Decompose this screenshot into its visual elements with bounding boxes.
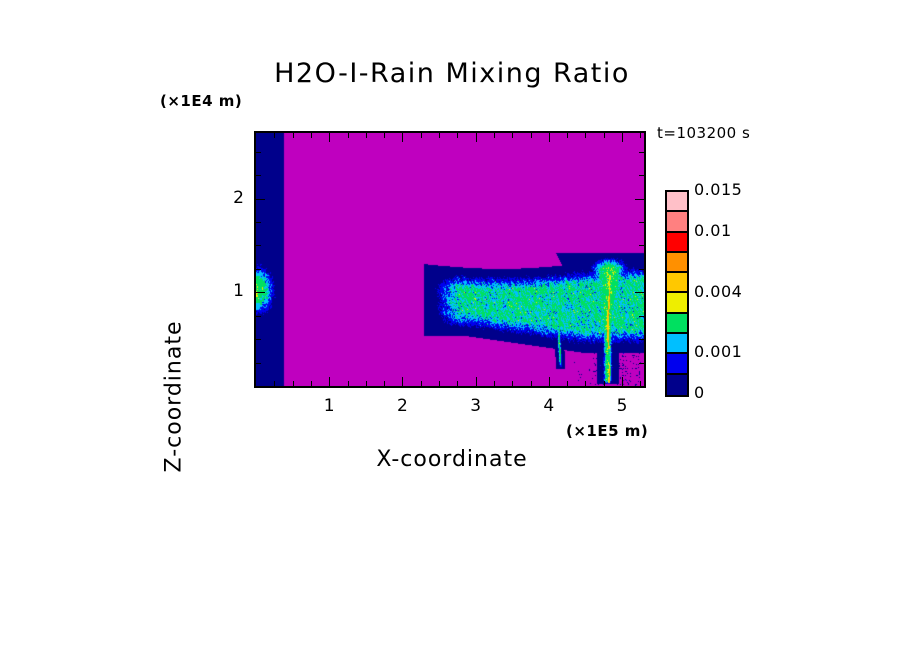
heatmap-canvas [256, 133, 644, 386]
x-minor-tick [457, 381, 458, 386]
x-major-tick [549, 377, 550, 386]
x-minor-tick [348, 381, 349, 386]
x-minor-tick [439, 381, 440, 386]
x-major-tick [549, 133, 550, 142]
x-minor-tick [640, 381, 641, 386]
colorbar-tick-label: 0.001 [694, 342, 742, 361]
colorbar-tick-label: 0.01 [694, 221, 732, 240]
y-major-tick [256, 199, 265, 200]
x-minor-tick [274, 133, 275, 138]
y-minor-tick [639, 245, 644, 246]
y-minor-tick [256, 339, 261, 340]
x-minor-tick [274, 381, 275, 386]
y-major-tick [635, 292, 644, 293]
y-minor-tick [639, 363, 644, 364]
x-major-tick [329, 133, 330, 142]
colorbar-band [667, 375, 687, 395]
y-minor-tick [639, 269, 644, 270]
plot-area [254, 131, 646, 388]
y-major-tick [635, 199, 644, 200]
x-minor-tick [585, 133, 586, 138]
y-minor-tick [256, 175, 261, 176]
colorbar-band [667, 314, 687, 334]
x-minor-tick [366, 381, 367, 386]
x-tick-label: 2 [382, 396, 422, 416]
x-major-tick [329, 377, 330, 386]
y-major-tick [256, 292, 265, 293]
y-tick-label: 2 [214, 188, 244, 208]
x-minor-tick [384, 381, 385, 386]
colorbar [665, 190, 689, 397]
x-minor-tick [311, 381, 312, 386]
x-minor-tick [640, 133, 641, 138]
x-axis-unit-label: (×1E5 m) [566, 422, 648, 440]
x-minor-tick [293, 133, 294, 138]
page-title: H2O-I-Rain Mixing Ratio [0, 58, 904, 89]
x-minor-tick [384, 133, 385, 138]
colorbar-band [667, 253, 687, 273]
y-minor-tick [256, 152, 261, 153]
timestamp-annotation: t=103200 s [657, 124, 750, 142]
x-minor-tick [311, 133, 312, 138]
x-major-tick [476, 133, 477, 142]
z-axis-unit-label: (×1E4 m) [160, 92, 242, 110]
y-minor-tick [639, 152, 644, 153]
x-minor-tick [421, 133, 422, 138]
x-minor-tick [494, 381, 495, 386]
x-minor-tick [604, 133, 605, 138]
colorbar-band [667, 212, 687, 232]
x-minor-tick [512, 381, 513, 386]
colorbar-band [667, 192, 687, 212]
y-tick-label: 1 [214, 281, 244, 301]
y-axis-title: Z-coordinate [162, 267, 187, 527]
x-minor-tick [457, 133, 458, 138]
x-minor-tick [567, 381, 568, 386]
colorbar-band [667, 334, 687, 354]
x-minor-tick [531, 381, 532, 386]
x-minor-tick [439, 133, 440, 138]
x-tick-label: 1 [309, 396, 349, 416]
x-minor-tick [512, 133, 513, 138]
colorbar-band [667, 273, 687, 293]
x-major-tick [622, 377, 623, 386]
x-minor-tick [604, 381, 605, 386]
x-major-tick [476, 377, 477, 386]
colorbar-band [667, 233, 687, 253]
x-minor-tick [531, 133, 532, 138]
x-minor-tick [421, 381, 422, 386]
x-major-tick [402, 133, 403, 142]
x-minor-tick [293, 381, 294, 386]
y-minor-tick [256, 363, 261, 364]
colorbar-band [667, 354, 687, 374]
colorbar-tick-label: 0.015 [694, 180, 742, 199]
x-tick-label: 3 [456, 396, 496, 416]
x-minor-tick [585, 381, 586, 386]
x-axis-title: X-coordinate [0, 447, 904, 472]
y-minor-tick [256, 269, 261, 270]
x-major-tick [622, 133, 623, 142]
x-minor-tick [567, 133, 568, 138]
x-tick-label: 4 [529, 396, 569, 416]
y-minor-tick [639, 175, 644, 176]
y-minor-tick [256, 245, 261, 246]
x-minor-tick [494, 133, 495, 138]
colorbar-tick-label: 0.004 [694, 282, 742, 301]
y-minor-tick [639, 222, 644, 223]
x-minor-tick [348, 133, 349, 138]
y-axis-title-wrap: Z-coordinate [128, 130, 188, 390]
colorbar-band [667, 293, 687, 313]
x-major-tick [402, 377, 403, 386]
y-minor-tick [256, 222, 261, 223]
x-tick-label: 5 [602, 396, 642, 416]
y-minor-tick [256, 316, 261, 317]
y-minor-tick [639, 339, 644, 340]
x-minor-tick [366, 133, 367, 138]
y-minor-tick [639, 316, 644, 317]
colorbar-tick-label: 0 [694, 383, 705, 402]
